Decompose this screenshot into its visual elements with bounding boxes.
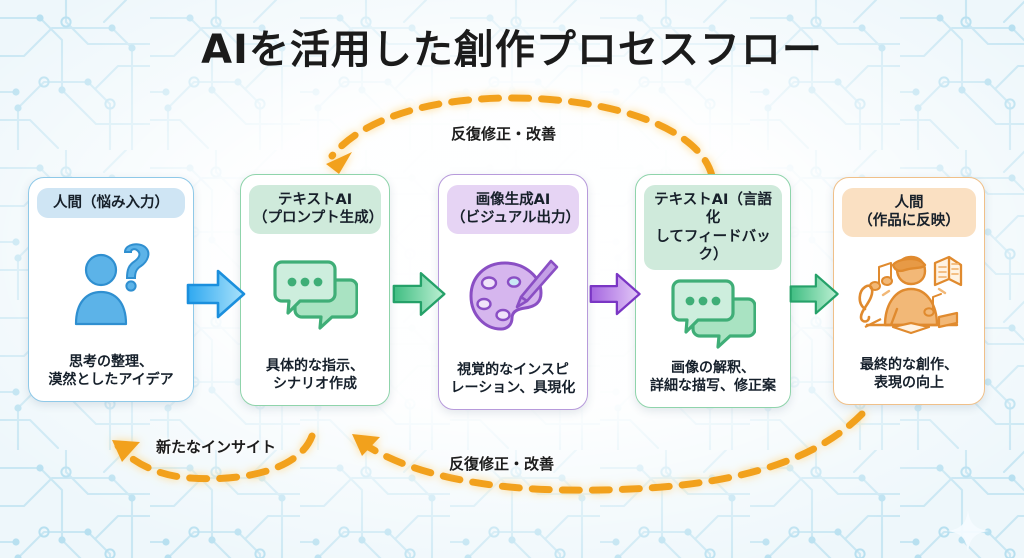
card-human-input-header: 人間（悩み入力） (37, 188, 185, 218)
card-text-ai-feedback-header: テキストAI（言語化 してフィードバック） (644, 185, 782, 270)
card-text-ai-feedback[interactable]: テキストAI（言語化 してフィードバック） 画像の解釈、 詳細な描写、修正案 (635, 174, 791, 408)
sparkle-icon (945, 508, 991, 554)
card-human-output-header: 人間 （作品に反映） (842, 188, 976, 237)
card-text-ai-prompt-caption: 具体的な指示、 シナリオ作成 (266, 357, 364, 397)
chat-bubbles-icon (644, 270, 782, 359)
card-image-gen-ai-header: 画像生成AI （ビジュアル出力） (447, 185, 579, 234)
loop-top-label: 反復修正・改善 (451, 123, 556, 144)
palette-brush-icon (447, 234, 579, 361)
loop-bottom-right-arc (352, 414, 862, 490)
card-text-ai-feedback-caption: 画像の解釈、 詳細な描写、修正案 (650, 359, 776, 399)
card-human-input-caption: 思考の整理、 漠然としたアイデア (48, 353, 173, 393)
card-text-ai-prompt-header: テキストAI （プロンプト生成） (249, 185, 381, 234)
person-writing-icon (842, 237, 976, 356)
card-text-ai-prompt[interactable]: テキストAI （プロンプト生成） 具体的な指示、 シナリオ作成 (240, 174, 390, 406)
card-image-gen-ai[interactable]: 画像生成AI （ビジュアル出力） 視覚的なインスピ レーション、具現化 (438, 174, 588, 410)
chat-bubbles-icon (249, 234, 381, 357)
card-human-input[interactable]: 人間（悩み入力） 思考の整理、 漠然としたアイデア (28, 177, 194, 402)
card-image-gen-ai-caption: 視覚的なインスピ レーション、具現化 (451, 361, 576, 401)
card-human-output[interactable]: 人間 （作品に反映） (833, 177, 985, 405)
card-human-output-caption: 最終的な創作、 表現の向上 (860, 356, 958, 396)
diagram-canvas: AIを活用した創作プロセスフロー 反復修正・改善 新たなインサイト (0, 0, 1024, 558)
loop-bottom-left-label: 新たなインサイト (156, 436, 276, 457)
page-title: AIを活用した創作プロセスフロー (0, 17, 1024, 75)
person-question-icon (37, 218, 185, 352)
loop-bottom-right-label: 反復修正・改善 (449, 453, 554, 474)
connector-arrow-1 (186, 265, 248, 323)
